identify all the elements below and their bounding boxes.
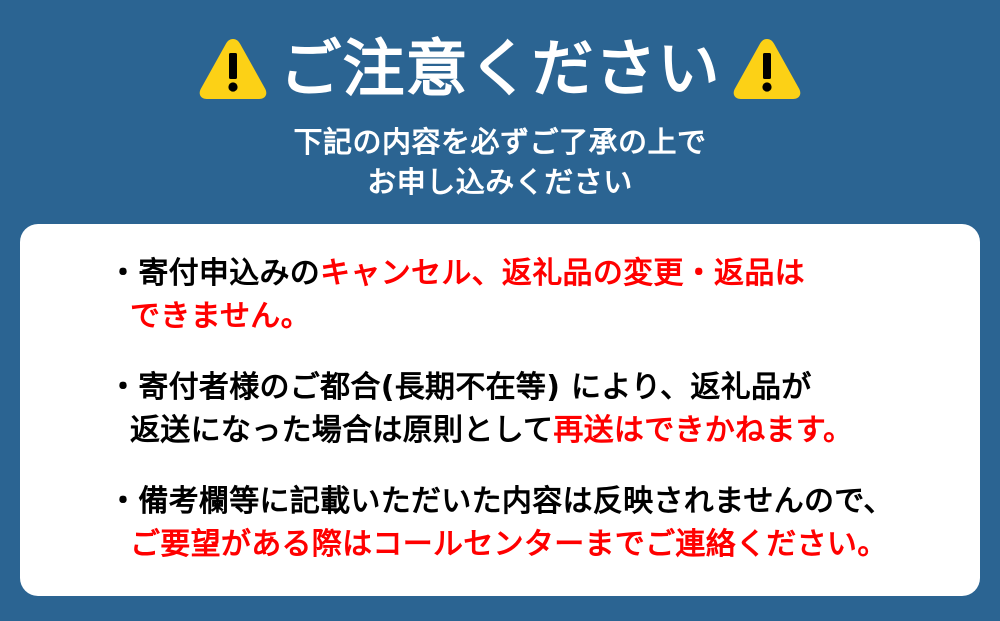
title-row: ご注意ください [0, 26, 1000, 112]
notice-item: ・寄付者様のご都合(長期不在等) により、返礼品が 返送になった場合は原則として… [108, 366, 946, 452]
page-title: ご注意ください [279, 36, 720, 102]
notice-line-1: ・寄付者様のご都合(長期不在等) により、返礼品が [108, 366, 946, 409]
notice-line-2: ご要望がある際はコールセンターまでご連絡ください。 [108, 523, 946, 566]
notice-text-segment: 備考欄等に記載いただいた内容は反映されませんので、 [138, 484, 893, 519]
notice-text-segment: 寄付者様のご都合(長期不在等) により、返礼品が [138, 370, 811, 405]
subtitle-line-1: 下記の内容を必ずご了承の上で [0, 122, 1000, 162]
notice-text-segment: ご要望がある際はコールセンターまでご連絡ください。 [130, 527, 888, 562]
notice-line-1: ・備考欄等に記載いただいた内容は反映されませんので、 [108, 480, 946, 523]
bullet-marker: ・ [108, 484, 138, 519]
notice-text-segment: キャンセル、返礼品の変更・返品は [320, 256, 805, 291]
notice-text-segment: 返送になった場合は原則として [130, 413, 553, 448]
notice-item: ・寄付申込みのキャンセル、返礼品の変更・返品は できません。 [108, 252, 946, 338]
notice-line-2: 返送になった場合は原則として再送はできかねます。 [108, 409, 946, 452]
notice-text-segment: 寄付申込みの [138, 256, 320, 291]
notice-line-2: できません。 [108, 295, 946, 338]
notice-card: ・寄付申込みのキャンセル、返礼品の変更・返品は できません。 ・寄付者様のご都合… [20, 224, 980, 596]
subtitle-line-2: お申し込みください [0, 162, 1000, 202]
notice-line-1: ・寄付申込みのキャンセル、返礼品の変更・返品は [108, 252, 946, 295]
notice-list: ・寄付申込みのキャンセル、返礼品の変更・返品は できません。 ・寄付者様のご都合… [108, 252, 946, 566]
bullet-marker: ・ [108, 370, 138, 405]
notice-text-segment: できません。 [130, 299, 311, 334]
bullet-marker: ・ [108, 256, 138, 291]
warning-triangle-icon [197, 36, 269, 102]
warning-triangle-icon [731, 36, 803, 102]
notice-item: ・備考欄等に記載いただいた内容は反映されませんので、 ご要望がある際はコールセン… [108, 480, 946, 566]
notice-text-segment: 再送はできかねます。 [553, 413, 853, 448]
notice-header: ご注意ください 下記の内容を必ずご了承の上で お申し込みください [0, 0, 1000, 202]
page-subtitle: 下記の内容を必ずご了承の上で お申し込みください [0, 122, 1000, 202]
